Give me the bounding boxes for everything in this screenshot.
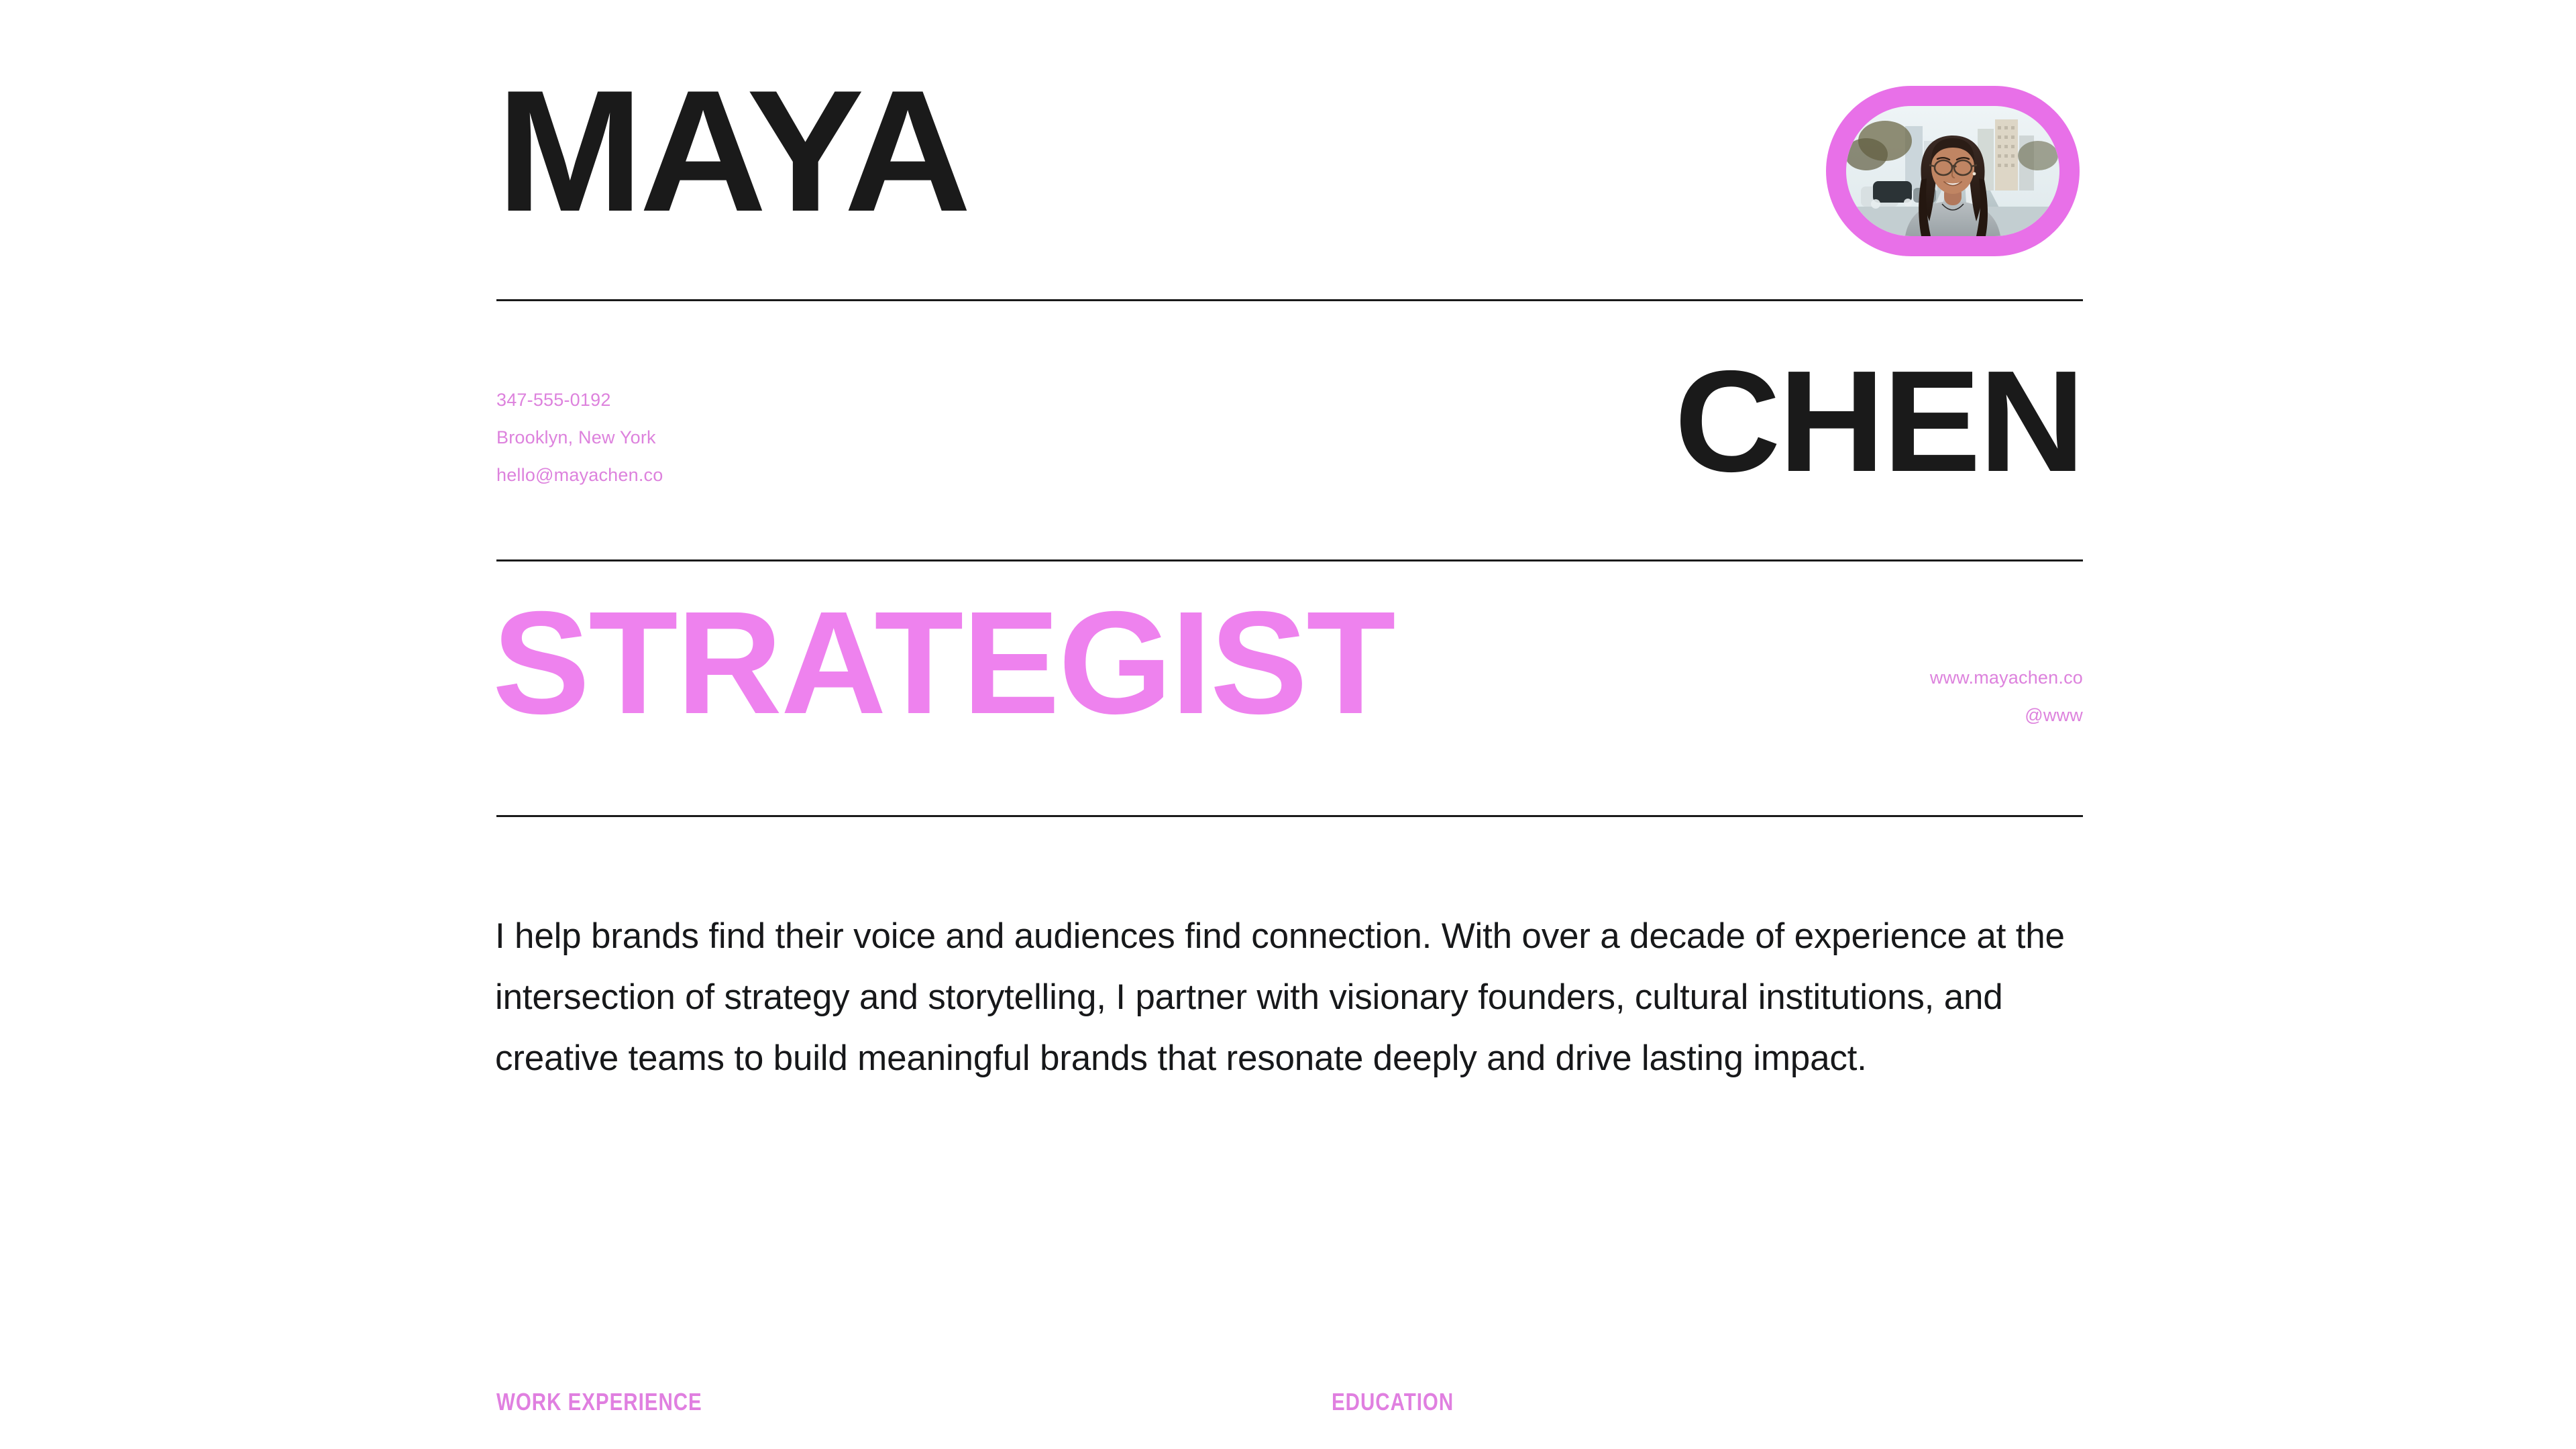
divider-middle — [496, 559, 2083, 561]
divider-bottom — [496, 815, 2083, 817]
page-title-first-name: MAYA — [496, 64, 967, 237]
section-heading-education: EDUCATION — [1332, 1387, 1454, 1417]
resume-page: MAYA — [0, 0, 2576, 1449]
section-heading-work-experience: WORK EXPERIENCE — [496, 1387, 702, 1417]
links-block: www.mayachen.co @www — [1930, 659, 2083, 734]
contact-email[interactable]: hello@mayachen.co — [496, 456, 663, 494]
divider-top — [496, 299, 2083, 301]
avatar-photo — [1846, 106, 2059, 236]
contact-location: Brooklyn, New York — [496, 419, 663, 456]
link-website[interactable]: www.mayachen.co — [1930, 659, 2083, 696]
contact-phone[interactable]: 347-555-0192 — [496, 381, 663, 419]
summary-paragraph: I help brands find their voice and audie… — [495, 906, 2098, 1089]
link-handle[interactable]: @www — [1930, 696, 2083, 734]
contact-block: 347-555-0192 Brooklyn, New York hello@ma… — [496, 381, 663, 494]
page-title-last-name: CHEN — [1674, 349, 2083, 493]
page-subtitle-role: STRATEGIST — [492, 590, 1395, 737]
avatar — [1826, 86, 2080, 256]
